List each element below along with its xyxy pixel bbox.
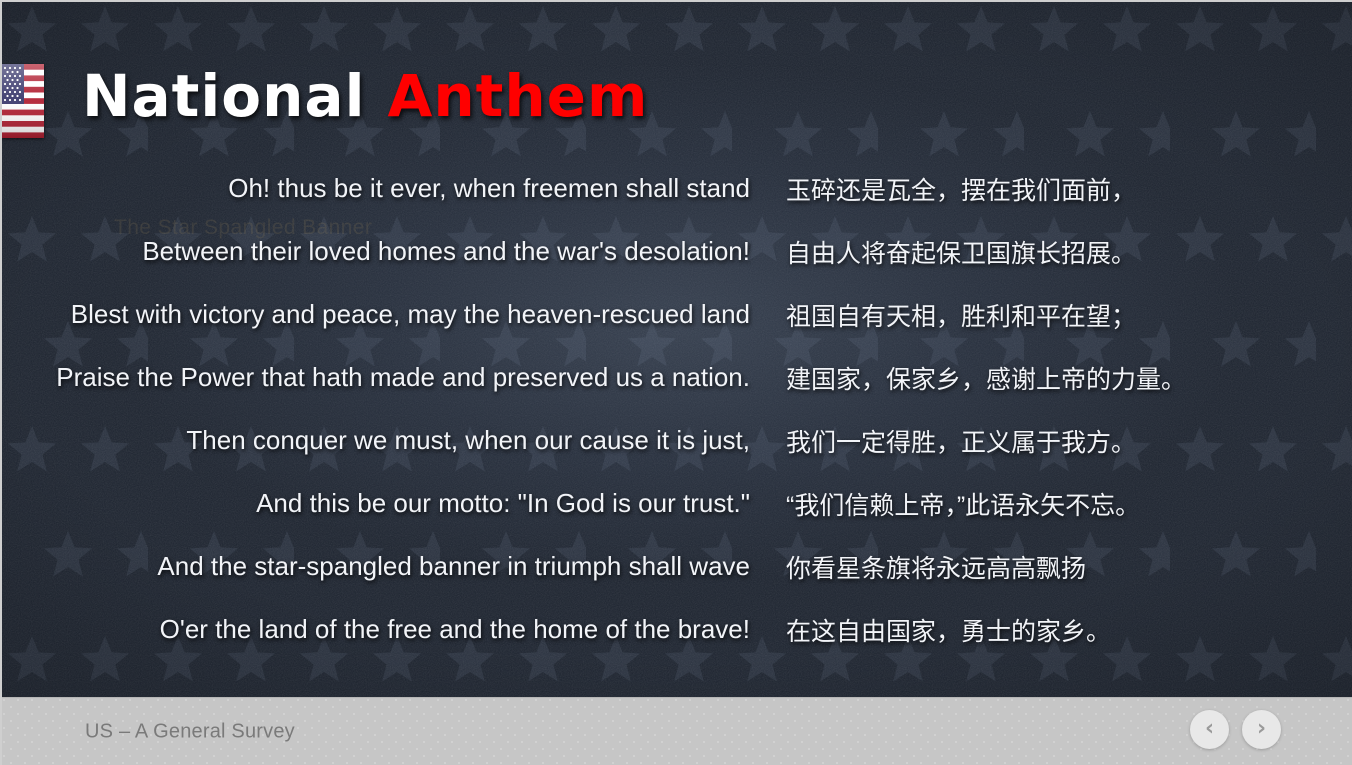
lyric-english: And the star-spangled banner in triumph …	[38, 535, 766, 598]
lyric-english: Oh! thus be it ever, when freemen shall …	[38, 157, 766, 220]
page-title-primary: National	[82, 62, 365, 130]
lyrics-table: Oh! thus be it ever, when freemen shall …	[38, 157, 1228, 661]
slide-footer-bar: US – A General Survey	[2, 697, 1352, 765]
previous-slide-button[interactable]: ‹	[1190, 710, 1229, 749]
lyric-chinese: 你看星条旗将永远高高飘扬	[766, 535, 1228, 598]
lyric-chinese: 自由人将奋起保卫国旗长招展。	[766, 220, 1228, 283]
presentation-slide: NationalAnthem The Star Spangled Banner …	[0, 0, 1352, 765]
lyric-chinese: 在这自由国家，勇士的家乡。	[766, 598, 1228, 661]
lyric-english: Praise the Power that hath made and pres…	[38, 346, 766, 409]
footer-presentation-title: US – A General Survey	[85, 720, 295, 743]
page-title: NationalAnthem	[82, 66, 648, 127]
lyric-english: And this be our motto: "In God is our tr…	[38, 472, 766, 535]
lyric-english: Between their loved homes and the war's …	[38, 220, 766, 283]
chevron-right-icon: ›	[1257, 718, 1266, 740]
us-flag-icon	[2, 64, 44, 138]
lyric-chinese: 祖国自有天相，胜利和平在望；	[766, 283, 1228, 346]
lyric-chinese: 玉碎还是瓦全，摆在我们面前，	[766, 157, 1228, 220]
lyric-chinese: 建国家，保家乡，感谢上帝的力量。	[766, 346, 1228, 409]
lyric-english: O'er the land of the free and the home o…	[38, 598, 766, 661]
lyric-chinese: 我们一定得胜，正义属于我方。	[766, 409, 1228, 472]
page-title-accent: Anthem	[387, 62, 648, 130]
lyric-english: Blest with victory and peace, may the he…	[38, 283, 766, 346]
lyric-chinese: “我们信赖上帝，”此语永矢不忘。	[766, 472, 1228, 535]
chevron-left-icon: ‹	[1205, 718, 1214, 740]
lyric-english: Then conquer we must, when our cause it …	[38, 409, 766, 472]
next-slide-button[interactable]: ›	[1242, 710, 1281, 749]
